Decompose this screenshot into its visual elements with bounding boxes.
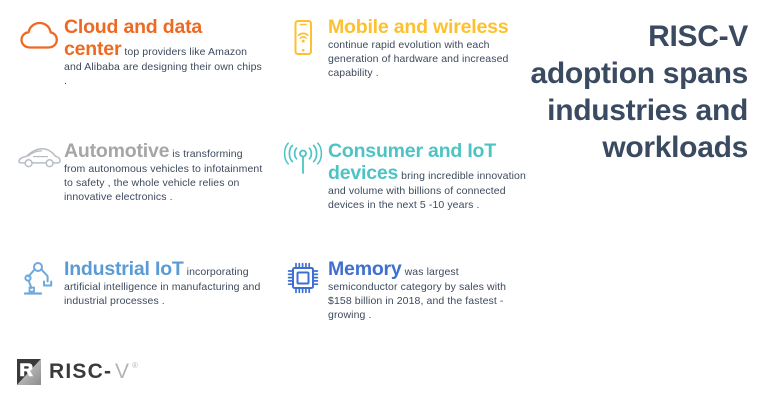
card-paragraph: Memory was largest semiconductor categor…	[328, 258, 530, 323]
card-text-memory: Memory was largest semiconductor categor…	[328, 258, 530, 323]
topic-card-grid: Cloud and data center top providers like…	[0, 0, 530, 355]
card-lead: continue rapid	[328, 39, 395, 51]
page-title: RISC-V adoption spans industries and wor…	[516, 18, 748, 166]
card-mobile-and-wireless[interactable]: Mobile and wireless continue rapid evolu…	[278, 16, 530, 81]
svg-text:V: V	[115, 360, 130, 383]
mobile-wireless-icon	[278, 16, 328, 64]
card-heading: Industrial IoT	[64, 258, 184, 280]
card-paragraph: Cloud and data center top providers like…	[64, 16, 264, 88]
slide-canvas: Cloud and data center top providers like…	[0, 0, 770, 403]
card-heading: Automotive	[64, 140, 169, 162]
card-paragraph: Mobile and wireless continue rapid evolu…	[328, 16, 530, 81]
card-consumer-and-iot-devices[interactable]: Consumer and IoT devices bring incredibl…	[278, 140, 530, 212]
risc-v-logo: RISC- V ® RISC-V	[16, 358, 159, 391]
card-lead: top	[121, 46, 139, 58]
card-text-industrial-iot: Industrial IoT incorporating artificial …	[64, 258, 264, 308]
card-heading: Memory	[328, 258, 402, 280]
car-icon	[14, 140, 64, 188]
card-paragraph: Industrial IoT incorporating artificial …	[64, 258, 264, 308]
card-body: semiconductor category by sales with $15…	[328, 281, 506, 321]
risc-v-wordmark-text: RISC-V	[159, 359, 160, 360]
card-text-consumer-and-iot-devices: Consumer and IoT devices bring incredibl…	[328, 140, 530, 212]
card-automotive[interactable]: Automotive is transforming from autonomo…	[14, 140, 264, 205]
card-lead: bring	[398, 170, 425, 182]
card-text-automotive: Automotive is transforming from autonomo…	[64, 140, 264, 205]
robot-arm-icon	[14, 258, 64, 306]
card-industrial-iot[interactable]: Industrial IoT incorporating artificial …	[14, 258, 264, 308]
card-cloud-and-data-center[interactable]: Cloud and data center top providers like…	[14, 16, 264, 88]
card-paragraph: Consumer and IoT devices bring incredibl…	[328, 140, 530, 212]
svg-text:RISC-: RISC-	[49, 360, 112, 383]
card-memory[interactable]: Memory was largest semiconductor categor…	[278, 258, 530, 323]
card-paragraph: Automotive is transforming from autonomo…	[64, 140, 264, 205]
card-text-mobile-and-wireless: Mobile and wireless continue rapid evolu…	[328, 16, 530, 81]
chip-icon	[278, 258, 328, 306]
svg-text:®: ®	[132, 361, 138, 370]
card-lead: was largest	[402, 266, 459, 278]
card-heading: Mobile and wireless	[328, 16, 508, 38]
antenna-icon	[278, 140, 328, 188]
risc-v-mark-icon	[16, 358, 42, 391]
card-text-cloud-and-data-center: Cloud and data center top providers like…	[64, 16, 264, 88]
cloud-icon	[14, 16, 64, 64]
risc-v-wordmark: RISC- V ® RISC-V	[49, 359, 159, 390]
